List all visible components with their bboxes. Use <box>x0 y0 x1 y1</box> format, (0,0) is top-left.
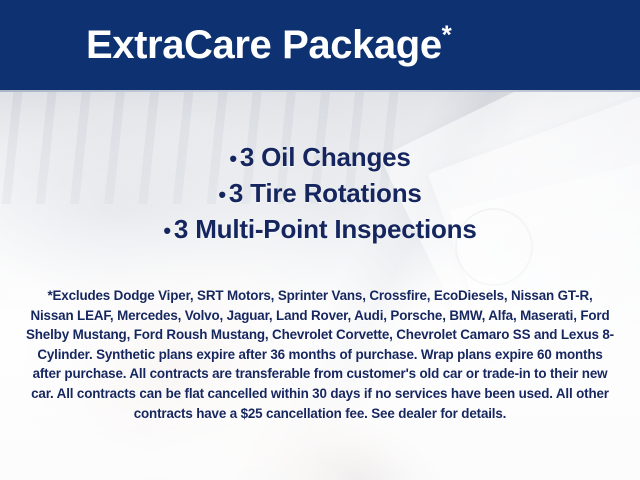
benefit-item-label: 3 Multi-Point Inspections <box>174 214 477 244</box>
header-bar: ExtraCare Package* <box>0 0 640 90</box>
bullet-icon: • <box>163 218 174 243</box>
bullet-icon: • <box>229 146 240 171</box>
benefit-item-oil-changes: •3 Oil Changes <box>0 140 640 176</box>
benefit-item-tire-rotations: •3 Tire Rotations <box>0 176 640 212</box>
benefits-list: •3 Oil Changes •3 Tire Rotations •3 Mult… <box>0 140 640 248</box>
benefit-item-label: 3 Oil Changes <box>240 142 411 172</box>
header-divider <box>0 90 640 92</box>
page-title: ExtraCare Package* <box>86 25 451 65</box>
page-title-asterisk: * <box>442 20 452 50</box>
bullet-icon: • <box>218 182 229 207</box>
extracare-package-poster: ExtraCare Package* •3 Oil Changes •3 Tir… <box>0 0 640 480</box>
page-title-text: ExtraCare Package <box>86 23 442 67</box>
benefit-item-label: 3 Tire Rotations <box>229 178 422 208</box>
benefit-item-multi-point-inspections: •3 Multi-Point Inspections <box>0 212 640 248</box>
disclaimer-text: *Excludes Dodge Viper, SRT Motors, Sprin… <box>26 286 614 423</box>
